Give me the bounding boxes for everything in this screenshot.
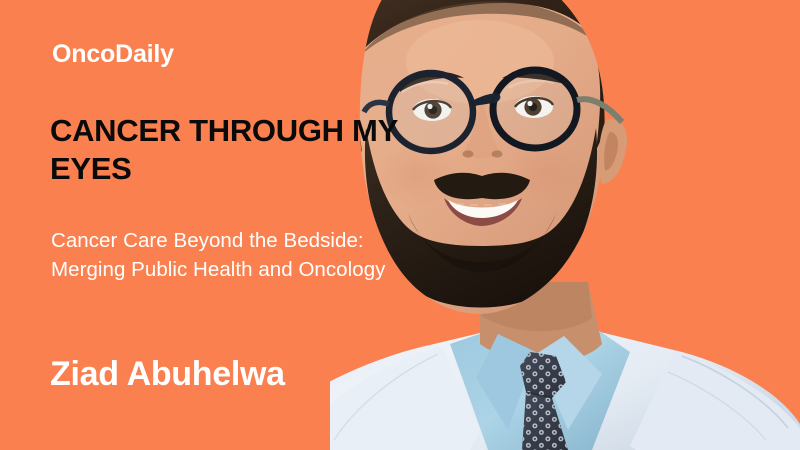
guest-name: Ziad Abuhelwa: [50, 357, 285, 391]
text-content-block: OncoDaily CANCER THROUGH MY EYES Cancer …: [0, 0, 430, 450]
series-title: CANCER THROUGH MY EYES: [50, 112, 410, 188]
oncodaily-video-thumbnail: OncoDaily CANCER THROUGH MY EYES Cancer …: [0, 0, 800, 450]
episode-subtitle: Cancer Care Beyond the Bedside: Merging …: [51, 226, 443, 284]
oncodaily-brand-logo[interactable]: OncoDaily: [52, 42, 174, 67]
ear: [599, 119, 628, 184]
